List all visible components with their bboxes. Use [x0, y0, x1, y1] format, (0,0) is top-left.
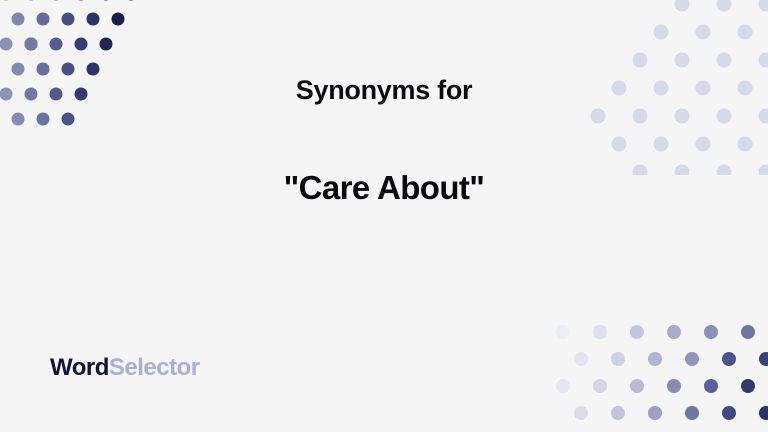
eyebrow-title: Synonyms for — [296, 76, 472, 106]
brand-logo-selector: Selector — [109, 354, 200, 381]
brand-logo-word: Word — [50, 354, 109, 381]
brand-logo: WordSelector — [50, 356, 200, 380]
social-card: Synonyms for "Care About" WordSelector — [0, 0, 768, 432]
main-term-title: "Care About" — [284, 170, 485, 206]
